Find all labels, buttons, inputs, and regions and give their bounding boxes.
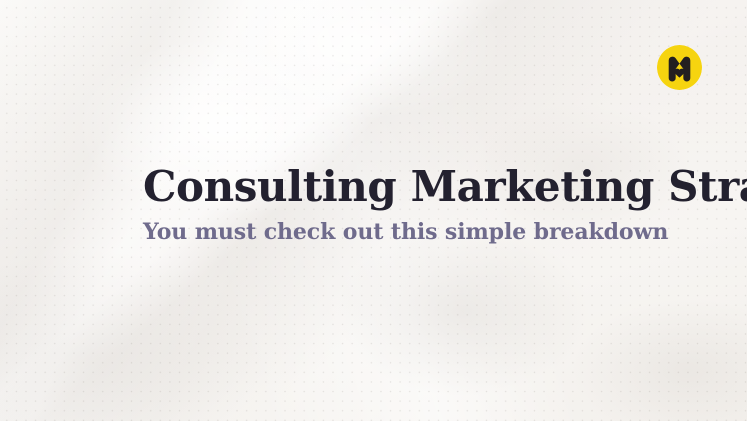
page-title: Consulting Marketing Strategy (143, 162, 663, 212)
presentation-slide: Consulting Marketing Strategy You must c… (0, 0, 747, 421)
slide-text-block: Consulting Marketing Strategy You must c… (143, 162, 663, 246)
brand-logo[interactable] (657, 45, 702, 90)
slide-subtitle: You must check out this simple breakdown (143, 218, 663, 246)
logo-m-heart-icon (657, 45, 702, 90)
